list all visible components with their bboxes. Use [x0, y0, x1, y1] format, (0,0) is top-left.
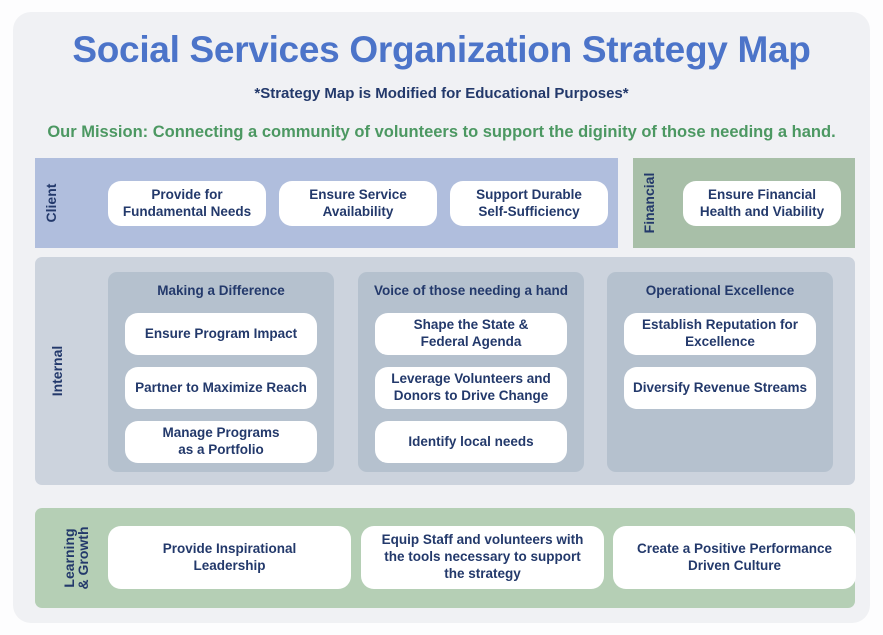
objective-card-internal-1-2[interactable]: Identify local needs [375, 421, 567, 463]
objective-card-client-2[interactable]: Support Durable Self-Sufficiency [450, 181, 608, 226]
objective-card-internal-1-1[interactable]: Leverage Volunteers and Donors to Drive … [375, 367, 567, 409]
objective-card-internal-0-1[interactable]: Partner to Maximize Reach [125, 367, 317, 409]
perspective-label-financial: Financial [633, 169, 665, 237]
strategy-map-card: Social Services Organization Strategy Ma… [13, 12, 870, 623]
objective-card-internal-2-1[interactable]: Diversify Revenue Streams [624, 367, 816, 409]
perspective-band-learning-growth: Learning & Growth Provide Inspirational … [35, 508, 855, 608]
theme-title-0: Making a Difference [108, 283, 334, 298]
objective-card-financial-0[interactable]: Ensure Financial Health and Viability [683, 181, 841, 226]
objective-card-learning-0[interactable]: Provide Inspirational Leadership [108, 526, 351, 589]
page-subtitle: *Strategy Map is Modified for Educationa… [13, 85, 870, 102]
perspective-label-client: Client [35, 171, 67, 235]
objective-card-client-1[interactable]: Ensure Service Availability [279, 181, 437, 226]
objective-card-internal-2-0[interactable]: Establish Reputation for Excellence [624, 313, 816, 355]
page-title: Social Services Organization Strategy Ma… [13, 31, 870, 70]
objective-card-learning-2[interactable]: Create a Positive Performance Driven Cul… [613, 526, 856, 589]
perspective-band-financial: Financial Ensure Financial Health and Vi… [633, 158, 855, 248]
perspective-band-client: Client Provide for Fundamental Needs Ens… [35, 158, 618, 248]
perspective-label-internal: Internal [41, 339, 73, 403]
objective-card-learning-1[interactable]: Equip Staff and volunteers with the tool… [361, 526, 604, 589]
objective-card-client-0[interactable]: Provide for Fundamental Needs [108, 181, 266, 226]
objective-card-internal-1-0[interactable]: Shape the State & Federal Agenda [375, 313, 567, 355]
objective-card-internal-0-0[interactable]: Ensure Program Impact [125, 313, 317, 355]
mission-statement: Our Mission: Connecting a community of v… [13, 123, 870, 142]
internal-theme-making-a-difference: Making a Difference Ensure Program Impac… [108, 272, 334, 472]
perspective-band-internal: Internal Making a Difference Ensure Prog… [35, 257, 855, 485]
theme-title-2: Operational Excellence [607, 283, 833, 298]
internal-theme-operational-excellence: Operational Excellence Establish Reputat… [607, 272, 833, 472]
theme-title-1: Voice of those needing a hand [358, 283, 584, 298]
objective-card-internal-0-2[interactable]: Manage Programs as a Portfolio [125, 421, 317, 463]
internal-theme-voice-of-those-needing-a-hand: Voice of those needing a hand Shape the … [358, 272, 584, 472]
perspective-label-learning-growth: Learning & Growth [55, 508, 97, 608]
